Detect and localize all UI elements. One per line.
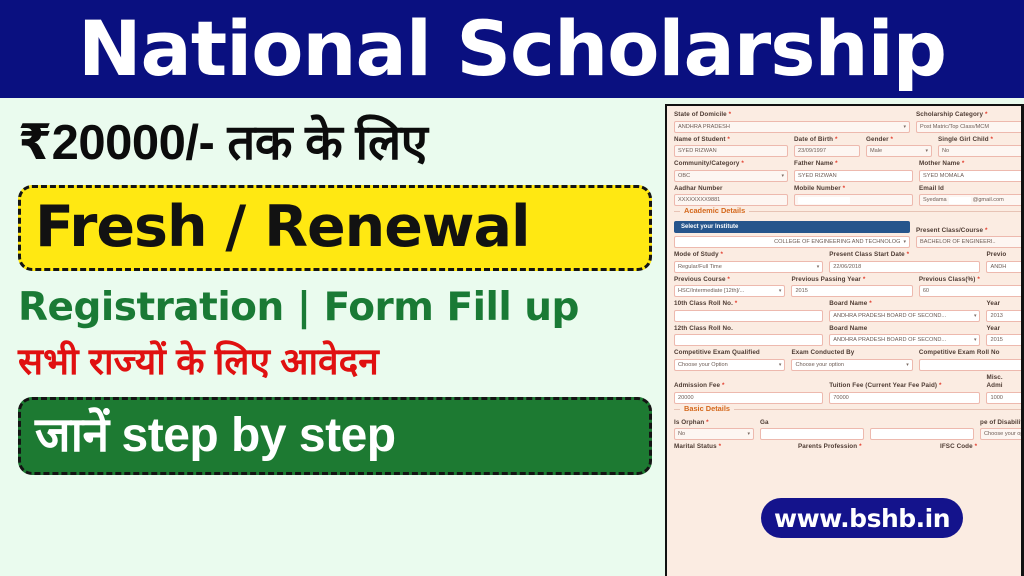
- father-name-input[interactable]: SYED RIZWAN: [794, 170, 913, 182]
- field-value: 2013: [990, 313, 1002, 319]
- required-marker: *: [727, 276, 730, 283]
- field-10th-class-roll-no: 10th Class Roll No. *: [674, 300, 823, 322]
- field-label: Mode of Study *: [674, 251, 823, 260]
- chevron-down-icon: ▾: [974, 337, 977, 343]
- required-marker: *: [985, 227, 988, 234]
- field-gender: Gender * Male ▾: [866, 136, 932, 158]
- table-row: State of Domicile * ANDHRA PRADESH ▾ Sch…: [674, 111, 1024, 133]
- required-marker: *: [721, 251, 724, 258]
- type-of-disability-select[interactable]: Choose your optio: [980, 428, 1024, 440]
- institute-select[interactable]: COLLEGE OF ENGINEERING AND TECHNOLOG ▾: [674, 236, 910, 248]
- field-value: Male: [870, 148, 882, 154]
- field-label: Father Name *: [794, 160, 913, 169]
- required-marker: *: [859, 443, 862, 450]
- field-community-category: Community/Category * OBC ▾: [674, 160, 788, 182]
- field-state-of-domicile: State of Domicile * ANDHRA PRADESH ▾: [674, 111, 910, 133]
- admission-fee-input[interactable]: 20000: [674, 392, 823, 404]
- exam-conducted-by-select[interactable]: Choose your option ▾: [791, 359, 912, 371]
- scholarship-category-select[interactable]: Post Matric/Top Class/MCM: [916, 121, 1024, 133]
- field-previous-board: Previo ANDH: [986, 251, 1024, 273]
- field-value: 2015: [795, 288, 807, 294]
- form-content: State of Domicile * ANDHRA PRADESH ▾ Sch…: [667, 106, 1024, 455]
- required-marker: *: [939, 382, 942, 389]
- select-your-institute-button[interactable]: Select your Institute: [674, 221, 910, 233]
- previous-passing-year-input[interactable]: 2015: [791, 285, 912, 297]
- page-title: National Scholarship: [78, 11, 946, 87]
- field-label: 10th Class Roll No. *: [674, 300, 823, 309]
- field-competitive-exam-roll-no: Competitive Exam Roll No: [919, 349, 1024, 371]
- gender-select[interactable]: Male ▾: [866, 145, 932, 157]
- basic-details-title: Basic Details: [680, 404, 734, 413]
- field-tuition-fee: Tuition Fee (Current Year Fee Paid) * 70…: [829, 382, 980, 404]
- required-marker: *: [869, 300, 872, 307]
- field-value: ANDHRA PRADESH BOARD OF SECOND...: [833, 337, 946, 343]
- field-value-prefix: Syedama: [923, 197, 947, 203]
- field-value: Choose your Option: [678, 362, 728, 368]
- field-label: Email Id: [919, 185, 1024, 194]
- redaction-bar: [798, 197, 850, 204]
- field-value: 22/06/2018: [833, 264, 861, 270]
- field-type-of-disability: pe of Disability Choose your optio: [980, 419, 1024, 441]
- table-row: 10th Class Roll No. * Board Name * ANDHR…: [674, 300, 1024, 322]
- is-orphan-select[interactable]: No ▾: [674, 428, 754, 440]
- required-marker: *: [975, 443, 978, 450]
- field-unknown-basic: [870, 419, 974, 441]
- chevron-down-icon: ▾: [903, 239, 906, 245]
- required-marker: *: [985, 111, 988, 118]
- field-competitive-exam-qualified: Competitive Exam Qualified Choose your O…: [674, 349, 785, 371]
- field-label: Competitive Exam Roll No: [919, 349, 1024, 358]
- chevron-down-icon: ▾: [925, 148, 928, 154]
- chevron-down-icon: ▾: [781, 173, 784, 179]
- field-value: ANDH: [990, 264, 1006, 270]
- field-10th-board-name: Board Name * ANDHRA PRADESH BOARD OF SEC…: [829, 300, 980, 322]
- field-label: Mobile Number *: [794, 185, 913, 194]
- registration-subheadline: Registration | Form Fill up: [18, 287, 652, 330]
- present-class-course-select[interactable]: BACHELOR OF ENGINEERI.. ▾: [916, 236, 1024, 248]
- field-email-id: Email Id Syedama @gmail.com: [919, 185, 1024, 207]
- academic-details-title: Academic Details: [680, 206, 749, 215]
- field-scholarship-category: Scholarship Category * Post Matric/Top C…: [916, 111, 1024, 133]
- field-label: Single Girl Child *: [938, 136, 1024, 145]
- field-name-of-student: Name of Student * SYED RIZWAN: [674, 136, 788, 158]
- required-marker: *: [863, 276, 866, 283]
- field-label: Ga: [760, 419, 864, 428]
- field-label: Aadhar Number: [674, 185, 788, 194]
- field-label: Present Class/Course *: [916, 227, 1024, 236]
- field-12th-year: Year 2015: [986, 325, 1024, 347]
- field-mobile-number: Mobile Number *: [794, 185, 913, 207]
- field-label: Previous Passing Year *: [791, 276, 912, 285]
- table-row: Aadhar Number XXXXXXXX9881 Mobile Number…: [674, 185, 1024, 207]
- field-exam-conducted-by: Exam Conducted By Choose your option ▾: [791, 349, 912, 371]
- field-value: SYED RIZWAN: [678, 148, 717, 154]
- required-marker: *: [907, 251, 910, 258]
- field-aadhar-number: Aadhar Number XXXXXXXX9881: [674, 185, 788, 207]
- required-marker: *: [843, 185, 846, 192]
- field-label: Present Class Start Date *: [829, 251, 980, 260]
- field-value-suffix: @gmail.com: [973, 197, 1004, 203]
- field-value: XXXXXXXX9881: [678, 197, 720, 203]
- required-marker: *: [722, 382, 725, 389]
- field-label: Name of Student *: [674, 136, 788, 145]
- table-row: Admission Fee * 20000 Tuition Fee (Curre…: [674, 374, 1024, 404]
- field-value: 2015: [990, 337, 1002, 343]
- chevron-down-icon: ▾: [974, 313, 977, 319]
- fresh-renewal-callout: Fresh / Renewal: [18, 185, 652, 271]
- field-value: No: [942, 148, 949, 154]
- field-label: 12th Class Roll No.: [674, 325, 823, 334]
- field-label: Gender *: [866, 136, 932, 145]
- field-label: [870, 419, 974, 428]
- required-marker: *: [729, 111, 732, 118]
- field-present-class-start-date: Present Class Start Date * 22/06/2018: [829, 251, 980, 273]
- field-label: Mother Name *: [919, 160, 1024, 169]
- field-12th-class-roll-no: 12th Class Roll No.: [674, 325, 823, 347]
- table-row: Is Orphan * No ▾ Ga: [674, 419, 1024, 441]
- community-category-select[interactable]: OBC ▾: [674, 170, 788, 182]
- amount-headline: ₹20000/- तक के लिए: [18, 116, 652, 171]
- chevron-down-icon: ▾: [779, 362, 782, 368]
- all-states-line: सभी राज्यों के लिए आवेदन: [18, 341, 652, 384]
- redaction-bar: [949, 197, 971, 204]
- field-label: Community/Category *: [674, 160, 788, 169]
- field-label: State of Domicile *: [674, 111, 910, 120]
- field-value: 20000: [678, 395, 694, 401]
- field-mother-name: Mother Name * SYED MOMALA: [919, 160, 1024, 182]
- field-label: Tuition Fee (Current Year Fee Paid) *: [829, 382, 980, 391]
- field-value: ANDHRA PRADESH BOARD OF SECOND...: [833, 313, 946, 319]
- table-row: Marital Status * Parents Profession * IF…: [674, 443, 1024, 452]
- table-row: Name of Student * SYED RIZWAN Date of Bi…: [674, 136, 1024, 158]
- required-marker: *: [835, 160, 838, 167]
- aadhar-number-input[interactable]: XXXXXXXX9881: [674, 194, 788, 206]
- field-value: 1000: [990, 395, 1002, 401]
- field-value: 70000: [833, 395, 849, 401]
- twelfth-class-roll-no-input[interactable]: [674, 334, 823, 346]
- field-value: 23/09/1997: [798, 148, 826, 154]
- mother-name-input[interactable]: SYED MOMALA: [919, 170, 1024, 182]
- single-girl-child-select[interactable]: No ▾: [938, 145, 1024, 157]
- tenth-class-roll-no-input[interactable]: [674, 310, 823, 322]
- step-by-step-label: जानें step by step: [35, 412, 396, 460]
- field-value: 60: [923, 288, 929, 294]
- field-value: Choose your optio: [984, 431, 1024, 437]
- field-label: Year: [986, 325, 1024, 334]
- field-label: pe of Disability: [980, 419, 1024, 428]
- step-by-step-callout: जानें step by step: [18, 397, 652, 475]
- email-id-input[interactable]: Syedama @gmail.com: [919, 194, 1024, 206]
- tuition-fee-input[interactable]: 70000: [829, 392, 980, 404]
- chevron-down-icon: ▾: [903, 124, 906, 130]
- competitive-exam-qualified-select[interactable]: Choose your Option ▾: [674, 359, 785, 371]
- previous-class-percent-input[interactable]: 60: [919, 285, 1024, 297]
- field-marital-status: Marital Status *: [674, 443, 792, 452]
- table-row: 12th Class Roll No. Board Name ANDHRA PR…: [674, 325, 1024, 347]
- previous-board-select[interactable]: ANDH: [986, 261, 1024, 273]
- field-label: Admission Fee *: [674, 382, 823, 391]
- field-mode-of-study: Mode of Study * Regular/Full Time ▾: [674, 251, 823, 273]
- website-url-label: www.bshb.in: [774, 506, 950, 531]
- basic-extra-input[interactable]: [870, 428, 974, 440]
- field-value: HSC/Intermediate [12th]/...: [678, 288, 744, 294]
- website-watermark-badge: www.bshb.in: [761, 498, 963, 538]
- field-single-girl-child: Single Girl Child * No ▾: [938, 136, 1024, 158]
- field-value: COLLEGE OF ENGINEERING AND TECHNOLOG: [774, 239, 900, 245]
- table-row: Select your Institute COLLEGE OF ENGINEE…: [674, 221, 1024, 248]
- field-date-of-birth: Date of Birth * 23/09/1997: [794, 136, 860, 158]
- table-row: Community/Category * OBC ▾ Father Name *…: [674, 160, 1024, 182]
- name-of-student-input[interactable]: SYED RIZWAN: [674, 145, 788, 157]
- field-value: OBC: [678, 173, 690, 179]
- field-label-line2: Admi: [986, 382, 1024, 391]
- misc-admission-fee-input[interactable]: 1000: [986, 392, 1024, 404]
- field-value: SYED RIZWAN: [798, 173, 837, 179]
- field-label: Competitive Exam Qualified: [674, 349, 785, 358]
- field-label: Previous Class(%) *: [919, 276, 1024, 285]
- field-12th-board-name: Board Name ANDHRA PRADESH BOARD OF SECON…: [829, 325, 980, 347]
- academic-details-body: Select your Institute COLLEGE OF ENGINEE…: [674, 212, 1024, 404]
- required-marker: *: [835, 136, 838, 143]
- field-previous-passing-year: Previous Passing Year * 2015: [791, 276, 912, 298]
- required-marker: *: [719, 443, 722, 450]
- field-value: Post Matric/Top Class/MCM: [920, 124, 989, 130]
- field-label: Is Orphan *: [674, 419, 754, 428]
- field-label: IFSC Code *: [940, 443, 1024, 452]
- field-label: Parents Profession *: [798, 443, 934, 452]
- promo-left-column: ₹20000/- तक के लिए Fresh / Renewal Regis…: [0, 98, 662, 576]
- guardian-input[interactable]: [760, 428, 864, 440]
- mode-of-study-select[interactable]: Regular/Full Time ▾: [674, 261, 823, 273]
- field-label: Misc.: [986, 374, 1024, 383]
- field-present-class-course: Present Class/Course * BACHELOR OF ENGIN…: [916, 227, 1024, 249]
- field-admission-fee: Admission Fee * 20000: [674, 382, 823, 404]
- table-row: Previous Course * HSC/Intermediate [12th…: [674, 276, 1024, 298]
- field-10th-year: Year 2013: [986, 300, 1024, 322]
- promo-banner-page: National Scholarship ₹20000/- तक के लिए …: [0, 0, 1024, 576]
- required-marker: *: [706, 419, 709, 426]
- field-label: Exam Conducted By: [791, 349, 912, 358]
- basic-details-section: Basic Details Is Orphan * No ▾ Ga: [674, 409, 1024, 452]
- field-label: Board Name *: [829, 300, 980, 309]
- twelfth-board-name-select[interactable]: ANDHRA PRADESH BOARD OF SECOND... ▾: [829, 334, 980, 346]
- academic-details-section: Academic Details Select your Institute C…: [674, 211, 1024, 404]
- field-institute: Select your Institute COLLEGE OF ENGINEE…: [674, 221, 910, 248]
- chevron-down-icon: ▾: [817, 264, 820, 270]
- field-label: Date of Birth *: [794, 136, 860, 145]
- required-marker: *: [977, 276, 980, 283]
- chevron-down-icon: ▾: [906, 362, 909, 368]
- field-previous-class-percent: Previous Class(%) * 60: [919, 276, 1024, 298]
- field-value: Choose your option: [795, 362, 844, 368]
- field-father-name: Father Name * SYED RIZWAN: [794, 160, 913, 182]
- present-class-start-date-input[interactable]: 22/06/2018: [829, 261, 980, 273]
- field-value: Regular/Full Time: [678, 264, 722, 270]
- field-parents-profession: Parents Profession *: [798, 443, 934, 452]
- required-marker: *: [735, 300, 738, 307]
- state-of-domicile-select[interactable]: ANDHRA PRADESH ▾: [674, 121, 910, 133]
- field-label: Scholarship Category *: [916, 111, 1024, 120]
- table-row: Competitive Exam Qualified Choose your O…: [674, 349, 1024, 371]
- table-row: Mode of Study * Regular/Full Time ▾ Pres…: [674, 251, 1024, 273]
- basic-details-body: Is Orphan * No ▾ Ga: [674, 410, 1024, 452]
- field-value: No: [678, 431, 685, 437]
- required-marker: *: [991, 136, 994, 143]
- required-marker: *: [962, 160, 965, 167]
- required-marker: *: [741, 160, 744, 167]
- field-value: SYED MOMALA: [923, 173, 964, 179]
- mobile-number-input[interactable]: [794, 194, 913, 206]
- field-label: Marital Status *: [674, 443, 792, 452]
- tenth-board-name-select[interactable]: ANDHRA PRADESH BOARD OF SECOND... ▾: [829, 310, 980, 322]
- required-marker: *: [891, 136, 894, 143]
- field-is-orphan: Is Orphan * No ▾: [674, 419, 754, 441]
- field-label: Previous Course *: [674, 276, 785, 285]
- chevron-down-icon: ▾: [747, 431, 750, 437]
- field-label: Previo: [986, 251, 1024, 260]
- fresh-renewal-label: Fresh / Renewal: [35, 199, 530, 256]
- competitive-exam-roll-no-input[interactable]: [919, 359, 1024, 371]
- field-ifsc-code: IFSC Code *: [940, 443, 1024, 452]
- field-value: BACHELOR OF ENGINEERI..: [920, 239, 996, 245]
- required-marker: *: [727, 136, 730, 143]
- date-of-birth-input[interactable]: 23/09/1997: [794, 145, 860, 157]
- field-misc-admission-fee: Misc. Admi 1000: [986, 374, 1024, 404]
- chevron-down-icon: ▾: [779, 288, 782, 294]
- tenth-year-input[interactable]: 2013: [986, 310, 1024, 322]
- twelfth-year-input[interactable]: 2015: [986, 334, 1024, 346]
- header-banner: National Scholarship: [0, 0, 1024, 98]
- field-label: Board Name: [829, 325, 980, 334]
- field-label: Year: [986, 300, 1024, 309]
- field-guardian: Ga: [760, 419, 864, 441]
- field-previous-course: Previous Course * HSC/Intermediate [12th…: [674, 276, 785, 298]
- previous-course-select[interactable]: HSC/Intermediate [12th]/... ▾: [674, 285, 785, 297]
- field-value: ANDHRA PRADESH: [678, 124, 730, 130]
